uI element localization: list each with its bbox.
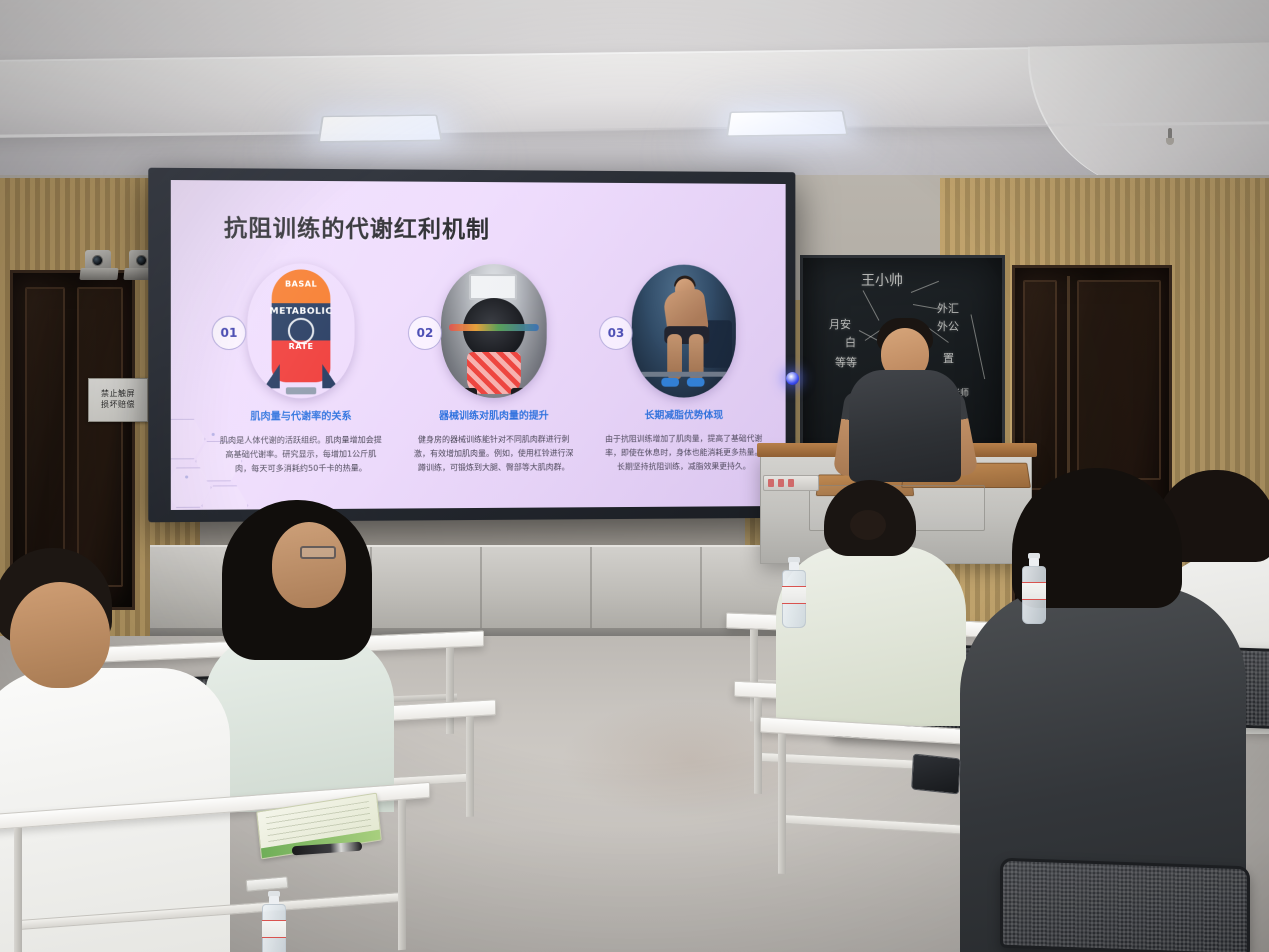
ceiling (0, 0, 1269, 190)
gym-backdrop-board (469, 274, 517, 300)
card-heading-1: 肌肉量与代谢率的关系 (212, 410, 390, 425)
bottle-label (1022, 582, 1046, 600)
slide-card-3: 03 (597, 264, 770, 473)
card-body-3: 由于抗阻训练增加了肌肉量，提高了基础代谢率，即使在休息时，身体也能消耗更多热量。… (597, 431, 770, 473)
notebook-ruled-lines (266, 801, 372, 847)
smartphone-on-desk[interactable] (911, 754, 961, 795)
card-media-deadlift-photo (632, 265, 736, 398)
door-right-panel-b (1077, 280, 1161, 480)
presentation-slide: 抗阻训练的代谢红利机制 01 BASAL METABOLIC RATE (171, 180, 786, 510)
desk-leg (778, 734, 786, 874)
rocket-text-basal: BASAL (264, 279, 339, 288)
slide-title: 抗阻训练的代谢红利机制 (224, 209, 490, 244)
glasses-icon (300, 546, 336, 559)
student-hair-bun (850, 510, 886, 540)
slide-cards: 01 BASAL METABOLIC RATE 肌 (212, 263, 770, 476)
card-number-badge-3: 03 (599, 316, 633, 350)
slide-card-1: 01 BASAL METABOLIC RATE 肌 (212, 263, 390, 476)
rocket-graphic: BASAL METABOLIC RATE (264, 269, 339, 394)
classroom-scene: 王小帅 月安 白 等等 外汇 外公 置 老师 王 方 口 禁止触屏 损坏赔偿 (0, 0, 1269, 952)
door-left-panel-b (77, 287, 123, 587)
student-head (10, 582, 110, 688)
deadlift-bar-icon (636, 372, 732, 377)
desk-shelf (21, 892, 399, 930)
student-mid-right-bun (776, 480, 976, 720)
chair-backrest (1000, 858, 1250, 952)
card-media-rocket-icon: BASAL METABOLIC RATE (247, 263, 354, 398)
bottle-label (782, 586, 806, 604)
ceiling-curved-corner (1028, 41, 1269, 196)
screen-edge-indicator-light (786, 372, 799, 385)
notice-line-2: 损坏赔偿 (101, 401, 135, 410)
blackboard-stroke-4 (911, 281, 939, 293)
deadlift-photo-backdrop (632, 265, 736, 398)
chair-right-front[interactable] (1000, 858, 1250, 952)
fire-sprinkler-icon (1166, 128, 1174, 146)
camera-lens-icon (92, 255, 103, 266)
shoe-left (461, 388, 477, 397)
rocket-text-metabolic: METABOLIC (264, 307, 339, 317)
card-body-2: 健身房的器械训练能针对不同肌肉群进行刺激，有效增加肌肉量。例如，使用杠铃进行深蹲… (406, 432, 581, 475)
student-head (272, 522, 346, 608)
ceiling-panel-light-left (318, 114, 443, 142)
card-number-badge-1: 01 (212, 316, 247, 350)
projection-screen[interactable]: 抗阻训练的代谢红利机制 01 BASAL METABOLIC RATE (148, 168, 795, 523)
camera-lens-icon (136, 255, 147, 266)
card-heading-2: 器械训练对肌肉量的提升 (406, 410, 581, 425)
gym-photo-backdrop (441, 264, 547, 398)
rocket-base (286, 387, 316, 394)
desk-leg (14, 828, 22, 952)
rocket-ring-icon (288, 318, 314, 344)
barbell-bar-icon (449, 324, 539, 331)
notice-sign: 禁止触屏 损坏赔偿 (88, 378, 148, 422)
desk-leg (398, 800, 406, 951)
desk-leg (466, 716, 474, 816)
shoe-right (511, 388, 527, 397)
bottle-label (262, 920, 286, 938)
card-heading-3: 长期减脂优势体现 (597, 409, 770, 424)
blackboard-name: 王小帅 (861, 270, 903, 290)
notice-line-1: 禁止触屏 (101, 390, 135, 399)
slide-card-2: 02 器械训练对肌肉量的提升 健身房的器械训练能针对不同肌肉群进行刺激，有效增加… (406, 264, 581, 475)
instructor-torso (849, 370, 961, 482)
card-number-badge-2: 02 (408, 316, 442, 350)
blackboard-stroke-1 (863, 290, 880, 320)
camera-mount-arm (79, 268, 118, 280)
card-media-barbell-squat-photo (441, 264, 547, 398)
card-body-1: 肌肉是人体代谢的活跃组织。肌肉量增加会提高基础代谢率。研究显示，每增加1公斤肌肉… (212, 433, 390, 476)
door-left-panel-a (25, 287, 65, 587)
ceiling-panel-light-right (726, 110, 849, 137)
athlete-shoe-right (687, 378, 705, 387)
athlete-shoe-left (661, 378, 679, 387)
ptz-camera-icon-1 (80, 250, 118, 284)
instructor (835, 318, 975, 478)
